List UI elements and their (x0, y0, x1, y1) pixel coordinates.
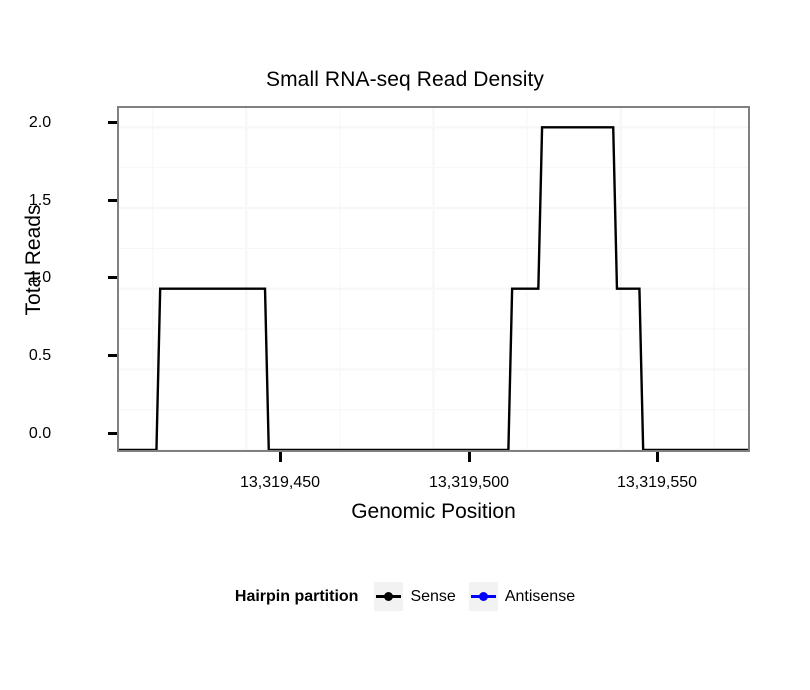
legend-key-sense (374, 582, 403, 611)
y-tick-mark-1 (108, 354, 117, 357)
y-tick-label-3: 1.5 (10, 192, 70, 210)
y-tick-label-0: 0.0 (10, 425, 70, 443)
legend-title: Hairpin partition (235, 588, 359, 606)
chart-title: Small RNA-seq Read Density (0, 68, 810, 92)
y-tick-mark-3 (108, 199, 117, 202)
y-tick-mark-2 (108, 276, 117, 279)
x-tick-label-0: 13,319,450 (195, 474, 365, 492)
legend-label-sense: Sense (410, 588, 455, 606)
x-axis-title: Genomic Position (117, 500, 750, 524)
series-sense (119, 127, 748, 450)
data-series-layer (119, 108, 748, 450)
legend-point-icon (384, 592, 393, 601)
legend: Hairpin partition Sense Antisense (0, 582, 810, 611)
y-tick-label-1: 0.5 (10, 347, 70, 365)
legend-entry-sense[interactable]: Sense (374, 582, 455, 611)
x-tick-mark-0 (279, 452, 282, 462)
y-axis-title: Total Reads (22, 160, 46, 360)
legend-point-icon (479, 592, 488, 601)
y-tick-label-2: 1.0 (10, 269, 70, 287)
x-tick-label-1: 13,319,500 (384, 474, 554, 492)
y-tick-mark-0 (108, 432, 117, 435)
legend-label-antisense: Antisense (505, 588, 575, 606)
y-tick-label-4: 2.0 (10, 114, 70, 132)
legend-entry-antisense[interactable]: Antisense (469, 582, 575, 611)
y-tick-mark-4 (108, 121, 117, 124)
legend-key-antisense (469, 582, 498, 611)
chart-figure: Small RNA-seq Read Density Total Reads 0… (0, 0, 810, 690)
plot-panel (117, 106, 750, 452)
x-tick-mark-2 (656, 452, 659, 462)
x-tick-label-2: 13,319,550 (572, 474, 742, 492)
x-tick-mark-1 (468, 452, 471, 462)
